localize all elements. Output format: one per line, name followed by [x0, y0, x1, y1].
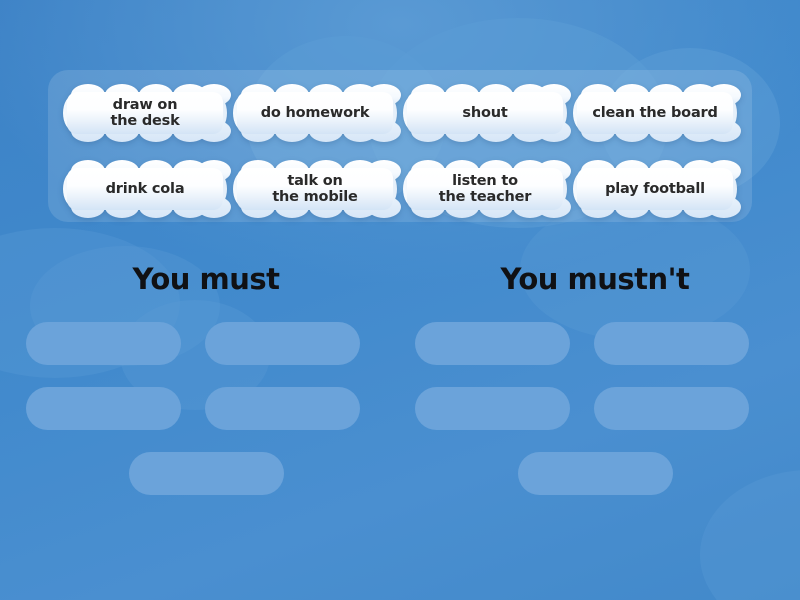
tile-cell: play football [570, 156, 740, 222]
drop-slot-mustnt-2[interactable] [594, 322, 749, 365]
slot-row [26, 452, 386, 495]
slot-row [415, 322, 775, 365]
drop-slot-mustnt-4[interactable] [594, 387, 749, 430]
tile-row: draw on the desk [60, 80, 740, 146]
word-tile-listen-to-the-teacher[interactable]: listen to the teacher [403, 160, 567, 218]
tile-cell: drink cola [60, 156, 230, 222]
tile-cell: listen to the teacher [400, 156, 570, 222]
tile-label: play football [597, 181, 713, 197]
word-tile-clean-the-board[interactable]: clean the board [573, 84, 737, 142]
drop-slot-mustnt-5[interactable] [518, 452, 673, 495]
slot-row [26, 322, 386, 365]
tile-label: shout [454, 105, 515, 121]
drop-slot-mustnt-1[interactable] [415, 322, 570, 365]
category-heading-mustnt: You mustn't [415, 262, 775, 296]
tile-label: draw on the desk [102, 97, 187, 129]
tile-row: drink cola talk [60, 156, 740, 222]
activity-stage: draw on the desk [0, 0, 800, 600]
slot-row [415, 452, 775, 495]
tile-cell: draw on the desk [60, 80, 230, 146]
tile-label: clean the board [584, 105, 725, 121]
tile-cell: talk on the mobile [230, 156, 400, 222]
word-tile-drink-cola[interactable]: drink cola [63, 160, 227, 218]
tile-cell: shout [400, 80, 570, 146]
tile-label: do homework [253, 105, 378, 121]
tile-label: listen to the teacher [431, 173, 539, 205]
drop-slot-mustnt-3[interactable] [415, 387, 570, 430]
word-tile-play-football[interactable]: play football [573, 160, 737, 218]
drop-zone-mustnt[interactable] [415, 322, 775, 517]
tile-label: talk on the mobile [264, 173, 365, 205]
drop-slot-must-5[interactable] [129, 452, 284, 495]
word-tile-talk-on-the-mobile[interactable]: talk on the mobile [233, 160, 397, 218]
word-tile-shout[interactable]: shout [403, 84, 567, 142]
drop-slot-must-4[interactable] [205, 387, 360, 430]
tile-cell: do homework [230, 80, 400, 146]
drop-slot-must-3[interactable] [26, 387, 181, 430]
drop-zone-must[interactable] [26, 322, 386, 517]
slot-row [415, 387, 775, 430]
drop-slot-must-1[interactable] [26, 322, 181, 365]
tile-label: drink cola [98, 181, 193, 197]
word-tile-draw-on-the-desk[interactable]: draw on the desk [63, 84, 227, 142]
slot-row [26, 387, 386, 430]
category-heading-must: You must [26, 262, 386, 296]
drop-slot-must-2[interactable] [205, 322, 360, 365]
tile-cell: clean the board [570, 80, 740, 146]
word-tile-tray: draw on the desk [48, 70, 752, 222]
word-tile-do-homework[interactable]: do homework [233, 84, 397, 142]
